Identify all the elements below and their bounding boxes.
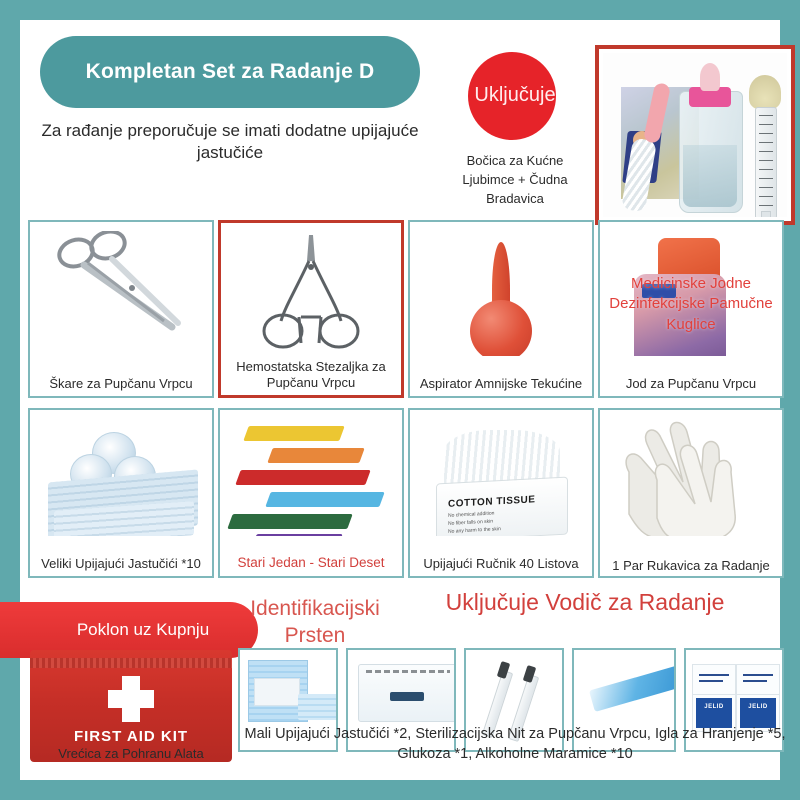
first-aid-kit-caption: Vrećica za Pohranu Alata — [30, 746, 232, 762]
product-cell-absorbent-pads[interactable]: Veliki Upijajući Jastučići *10 — [28, 408, 214, 578]
page-title-pill: Kompletan Set za Radanje D — [40, 36, 420, 108]
product-cell-gloves[interactable]: 1 Par Rukavica za Radanje — [598, 408, 784, 578]
scissors-icon — [46, 231, 196, 351]
wipe-front-icon: JELID — [740, 698, 776, 728]
product-cell-iodine[interactable]: Medicinske Jodne Dezinfekcijske Pamučne … — [598, 220, 784, 398]
syringe-scale-icon — [759, 115, 773, 209]
product-caption: Hemostatska Stezaljka za Pupčanu Vrpcu — [223, 359, 399, 392]
id-band-icon — [267, 448, 364, 463]
page-title: Kompletan Set za Radanje D — [86, 60, 375, 84]
product-caption: Upijajući Ručnik 40 Listova — [412, 556, 590, 572]
wipe-print-icon — [743, 680, 767, 682]
product-caption: Stari Jedan - Stari Deset — [222, 555, 400, 572]
medical-cross-icon — [108, 690, 154, 708]
product-caption: 1 Par Rukavica za Radanje — [602, 558, 780, 574]
cotton-tissue-art: COTTON TISSUE No chemical addition No fi… — [410, 414, 592, 536]
iodine-art — [600, 226, 782, 356]
includes-label: Uključuje — [440, 84, 590, 107]
wipe-print-icon — [699, 680, 723, 682]
product-cell-cotton-tissue[interactable]: COTTON TISSUE No chemical addition No fi… — [408, 408, 594, 578]
zipper-icon — [30, 658, 232, 668]
bulb-aspirator-icon — [470, 242, 532, 356]
product-infographic: Kompletan Set za Radanje D Za rađanje pr… — [0, 0, 800, 800]
hemostat-clamp-icon — [251, 233, 371, 355]
id-band-icon — [235, 470, 370, 485]
product-cell-id-bands[interactable]: Stari Jedan - Stari Deset — [218, 408, 404, 578]
scissors-art — [30, 226, 212, 356]
first-aid-kit-label: FIRST AID KIT — [30, 728, 232, 745]
bottom-contents-note: Mali Upijajući Jastučići *2, Sterilizaci… — [235, 725, 795, 764]
wipe-print-icon — [699, 674, 729, 676]
id-bands-art — [220, 414, 402, 536]
product-caption: Aspirator Amnijske Tekućine — [412, 376, 590, 392]
page-subtitle: Za rađanje preporučuje se imati dodatne … — [40, 120, 420, 164]
wipe-brand-label: JELID — [740, 704, 776, 710]
product-cell-scissors[interactable]: Škare za Pupčanu Vrpcu — [28, 220, 214, 398]
id-ring-heading: Identifikacijski Prsten — [220, 595, 410, 650]
id-band-icon — [243, 426, 344, 441]
product-cell-aspirator[interactable]: Aspirator Amnijske Tekućine — [408, 220, 594, 398]
latex-gloves-icon — [611, 418, 771, 536]
iodine-label-icon — [642, 284, 676, 298]
umbilical-clip-icon — [390, 692, 424, 701]
id-band-icon — [265, 492, 384, 507]
syringe-tip-icon — [749, 75, 781, 109]
small-pad-stack-icon — [298, 694, 336, 720]
guide-heading: Uključuje Vodič za Radanje — [420, 588, 750, 618]
hero-product-image — [595, 45, 795, 225]
product-caption: Škare za Pupčanu Vrpcu — [32, 376, 210, 392]
hemostat-art — [221, 227, 401, 355]
aspirator-bulb-icon — [470, 300, 532, 356]
package-label-icon — [254, 678, 300, 706]
product-cell-hemostat[interactable]: Hemostatska Stezaljka za Pupčanu Vrpcu — [218, 220, 404, 398]
tissue-sheets-icon — [444, 430, 560, 484]
id-band-icon — [227, 514, 352, 529]
id-band-icon — [251, 534, 342, 536]
gloves-art — [600, 414, 782, 536]
product-caption: Veliki Upijajući Jastučići *10 — [32, 556, 210, 572]
absorbent-pads-art — [30, 414, 212, 536]
gift-banner-label: Poklon uz Kupnju — [47, 619, 209, 640]
syringe-plunger-icon — [761, 211, 771, 217]
bag-print-icon — [366, 670, 450, 673]
hero-inner — [603, 53, 787, 217]
product-caption: Jod za Pupčanu Vrpcu — [602, 376, 780, 392]
white-sheet: Kompletan Set za Radanje D Za rađanje pr… — [20, 20, 780, 780]
glucose-stick-icon — [589, 662, 674, 712]
bottle-liquid-icon — [683, 145, 737, 207]
wipe-print-icon — [743, 674, 773, 676]
wipe-front-icon: JELID — [696, 698, 732, 728]
bottle-nipple-icon — [700, 63, 720, 91]
wipe-brand-label: JELID — [696, 704, 732, 710]
includes-caption: Bočica za Kućne Ljubimce + Čudna Bradavi… — [440, 152, 590, 209]
aspirator-art — [410, 226, 592, 356]
